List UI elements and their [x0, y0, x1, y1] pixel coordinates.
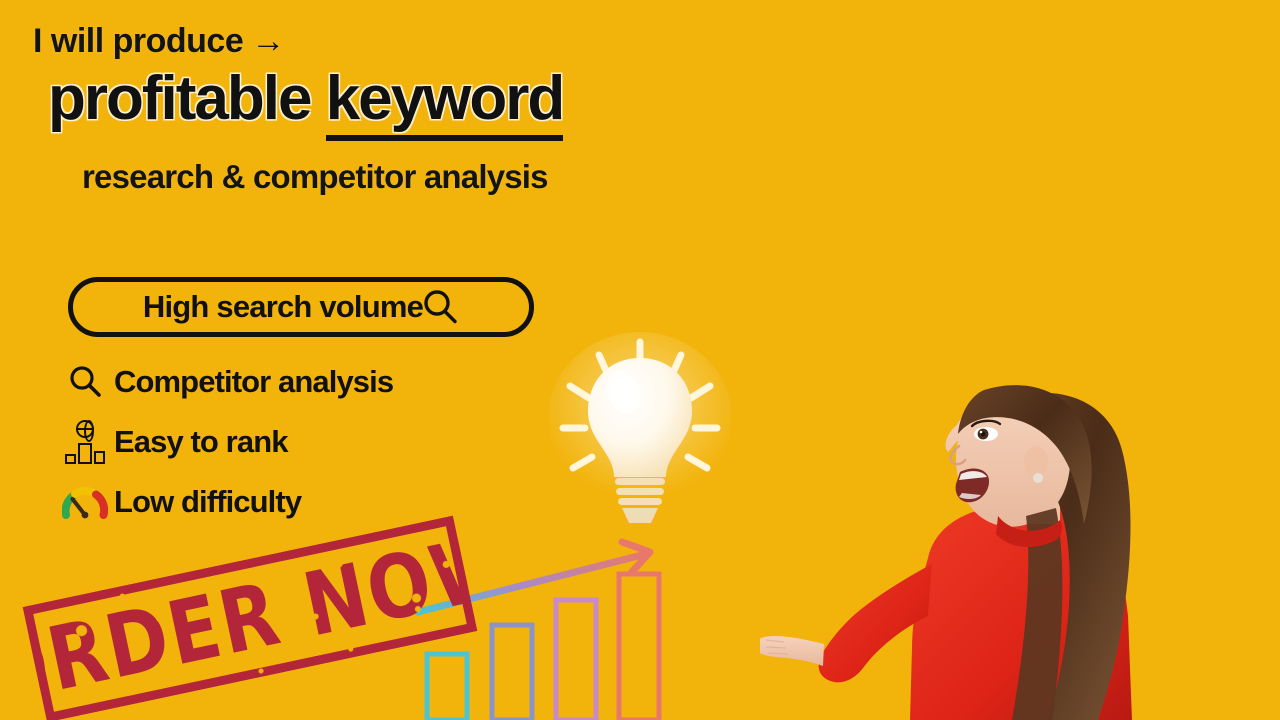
search-icon [421, 288, 459, 326]
chart-bar [619, 574, 659, 720]
rank-bar-medium [94, 451, 105, 464]
feature-item-competitor-analysis: Competitor analysis [58, 352, 393, 412]
feature-item-low-difficulty: Low difficulty [58, 472, 393, 532]
ear [1024, 446, 1048, 478]
presenting-woman-photo [760, 348, 1280, 720]
feature-label: Competitor analysis [114, 364, 393, 400]
trending-up-arrow-icon [418, 542, 650, 612]
high-search-volume-pill[interactable]: High search volume [68, 277, 534, 337]
chart-bar [556, 600, 596, 720]
earring [1033, 473, 1043, 483]
lightbulb-icon [545, 330, 735, 530]
headline-line-2: profitable keyword [48, 66, 563, 131]
growth-bar-chart [400, 530, 700, 720]
feature-item-easy-to-rank: Easy to rank [58, 412, 393, 472]
chart-bar [492, 625, 532, 720]
rank-bar-tall [78, 443, 92, 464]
gig-thumbnail-canvas: I will produce→ profitable keyword resea… [0, 0, 1280, 720]
feature-list: Competitor analysis Easy to rank [58, 352, 393, 532]
headline-keyword-underlined: keyword [326, 64, 564, 141]
right-arrow-icon: → [251, 22, 285, 60]
ranking-icon [58, 419, 112, 465]
feature-label: Low difficulty [114, 484, 301, 520]
headline-line-3: research & competitor analysis [82, 158, 548, 196]
headline-line-1: I will produce→ [33, 22, 285, 61]
headline-line-1-text: I will produce [33, 22, 243, 60]
chart-bar [427, 654, 467, 720]
feature-label: Easy to rank [114, 424, 288, 460]
headline-line-2-prefix: profitable [48, 64, 326, 133]
rank-bar-small [65, 454, 76, 464]
search-pill-label: High search volume [143, 289, 423, 325]
search-icon [58, 359, 112, 405]
globe-icon [76, 420, 94, 438]
gauge-icon [58, 479, 112, 525]
